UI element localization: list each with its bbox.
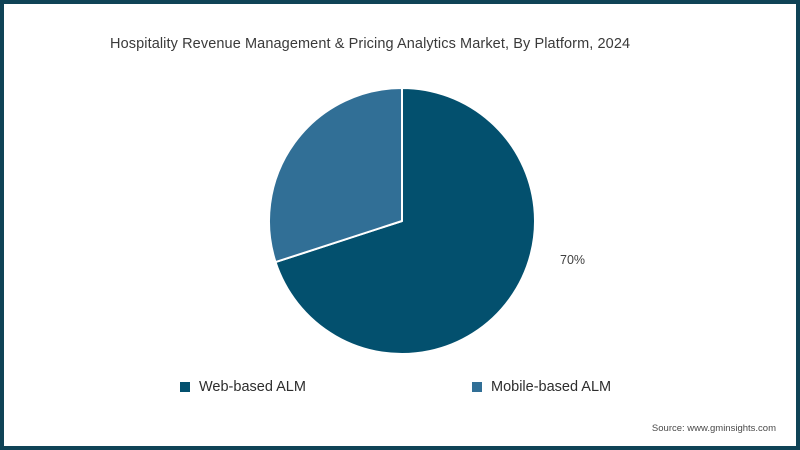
- pie-svg: [268, 87, 536, 355]
- chart-canvas: Hospitality Revenue Management & Pricing…: [0, 0, 800, 450]
- page-title: Hospitality Revenue Management & Pricing…: [110, 36, 630, 52]
- legend-swatch-icon: [472, 382, 482, 392]
- chart-legend: Web-based ALM Mobile-based ALM: [0, 376, 800, 400]
- legend-item-label: Mobile-based ALM: [491, 379, 611, 395]
- legend-item-label: Web-based ALM: [199, 379, 306, 395]
- pie-chart: [268, 87, 536, 355]
- legend-swatch-icon: [180, 382, 190, 392]
- pie-data-label-web-based: 70%: [560, 253, 585, 267]
- source-attribution: Source: www.gminsights.com: [652, 423, 776, 434]
- pie-slice-group: [269, 88, 535, 354]
- legend-item-web-based-alm[interactable]: Web-based ALM: [180, 376, 306, 398]
- legend-item-mobile-based-alm[interactable]: Mobile-based ALM: [472, 376, 611, 398]
